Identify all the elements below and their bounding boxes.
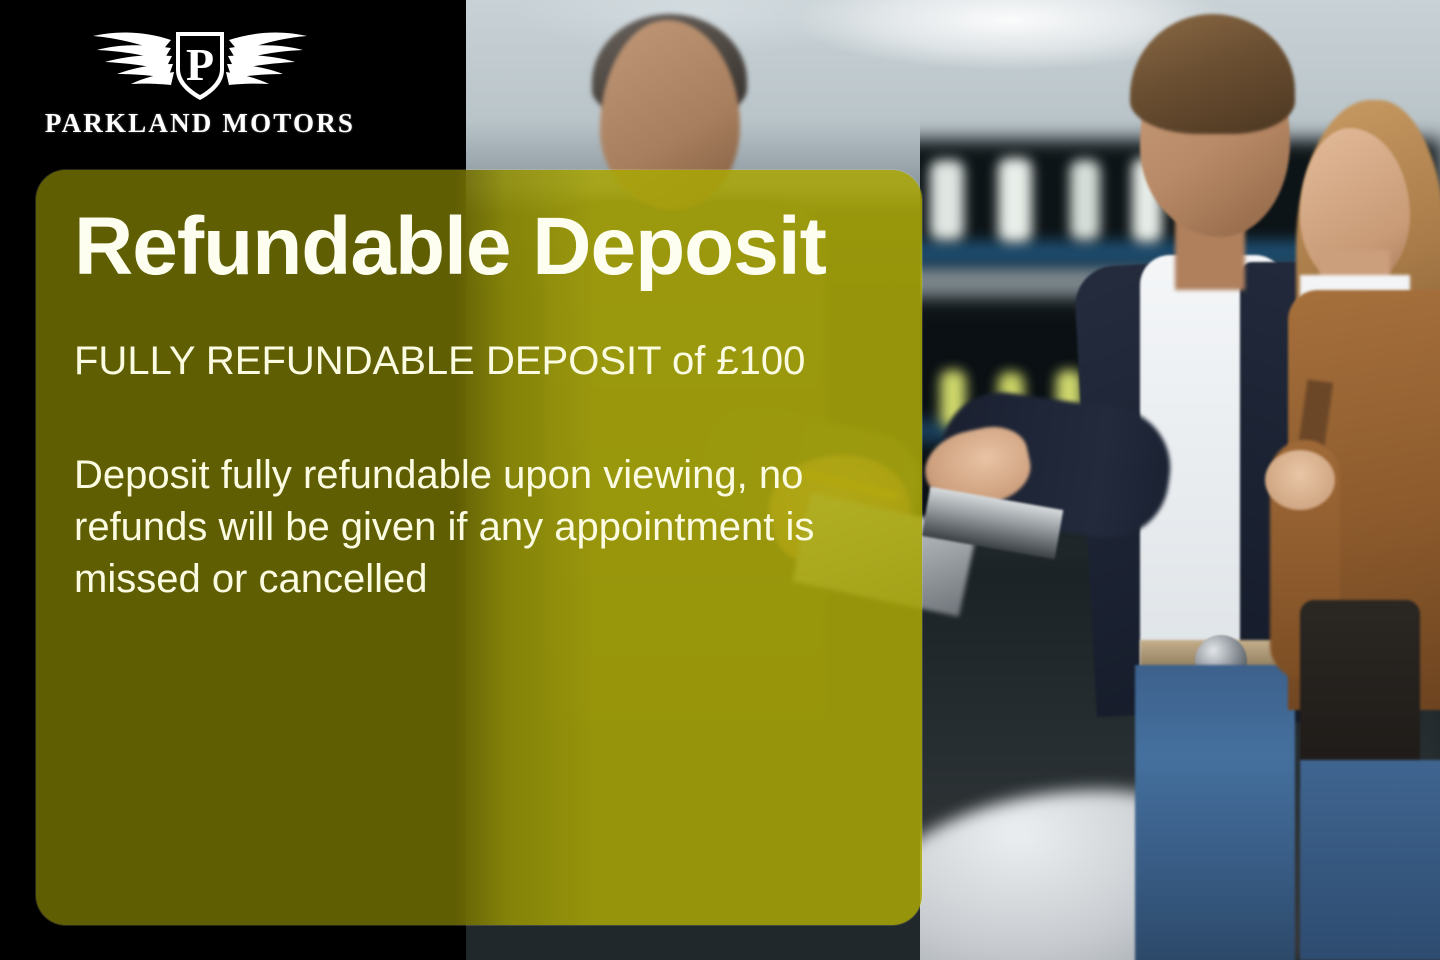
refund-policy-text: Deposit fully refundable upon viewing, n… <box>74 449 864 605</box>
winged-shield-p-logo-icon: P <box>75 22 325 106</box>
svg-text:P: P <box>186 39 214 90</box>
shelf-item <box>998 158 1032 242</box>
deposit-amount-text: FULLY REFUNDABLE DEPOSIT of £100 <box>74 336 844 387</box>
customer-female-hand <box>1265 450 1335 510</box>
customer-female-jeans <box>1300 760 1440 960</box>
promo-banner: P PARKLAND MOTORS Refundable Deposit FUL… <box>0 0 1440 960</box>
shelf-item <box>930 160 964 240</box>
refundable-deposit-panel: Refundable Deposit FULLY REFUNDABLE DEPO… <box>36 170 922 925</box>
brand-logo: P PARKLAND MOTORS <box>54 22 346 150</box>
customer-male-jeans <box>1135 665 1295 960</box>
brand-wordmark: PARKLAND MOTORS <box>45 108 355 139</box>
panel-title: Refundable Deposit <box>74 206 882 288</box>
shelf-item <box>1070 160 1100 240</box>
paragraph-spacer <box>74 387 882 449</box>
